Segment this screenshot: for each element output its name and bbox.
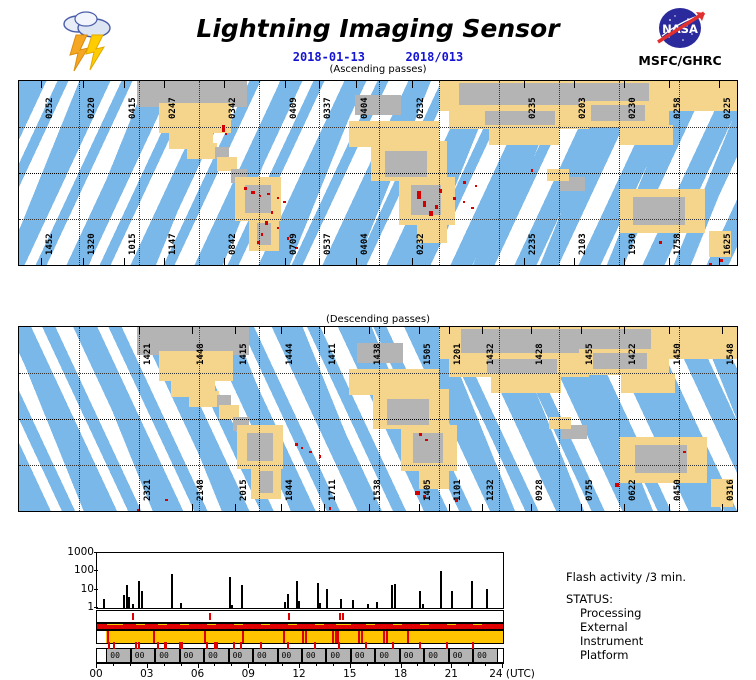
flash-activity-bar (422, 604, 424, 608)
platform-status-mark (157, 642, 159, 649)
platform-orbit-segment: 00 (302, 649, 326, 662)
descending-map-canvas: 1421144814151444141114381505120114321428… (19, 327, 737, 511)
flash-activity-bar (141, 591, 143, 608)
processing-status-mark (339, 613, 341, 620)
platform-status-mark (206, 642, 208, 649)
orbit-time-label: 2103 (578, 233, 588, 255)
orbit-tick (719, 258, 720, 265)
status-row-platform: 00000000000000000000000000000000 (96, 648, 504, 663)
x-minor-tick (333, 663, 334, 666)
external-status-mark (366, 623, 375, 625)
platform-status-mark (446, 642, 448, 649)
flash-activity-bar (440, 571, 442, 608)
flash-activity-bar (451, 591, 453, 608)
flash-activity-bar (180, 603, 182, 608)
orbit-tick (482, 504, 483, 511)
orbit-tick (722, 327, 723, 334)
instrument-status-mark (361, 631, 363, 643)
external-status-mark (447, 623, 456, 625)
chart-y-axis-labels: 1101001000 (54, 548, 94, 613)
x-minor-tick (130, 663, 131, 666)
flash-activity-bar (171, 574, 173, 608)
platform-orbit-segment: 00 (229, 649, 253, 662)
platform-orbit-segment: 00 (253, 649, 277, 662)
orbit-time-label: 1444 (285, 343, 295, 365)
orbit-time-label: 0622 (628, 479, 638, 501)
platform-status-mark (338, 642, 340, 649)
orbit-time-label: 1448 (196, 343, 206, 365)
x-tick-label: 03 (140, 668, 153, 680)
page-header: Lightning Imaging Sensor 2018-01-13 2018… (0, 0, 756, 76)
flash-activity-bar (486, 589, 488, 608)
flash-activity-bar (367, 604, 369, 608)
external-status-mark (158, 623, 167, 625)
flash-activity-bar (340, 599, 342, 608)
processing-status-mark (132, 613, 134, 620)
orbit-tick (324, 327, 325, 334)
orbit-time-label: 0537 (323, 233, 333, 255)
orbit-time-label: 1930 (628, 233, 638, 255)
date-doy: 2018/013 (405, 50, 463, 64)
y-tick-mark (94, 607, 98, 608)
legend-status-instrument: Instrument (566, 634, 756, 648)
orbit-tick (722, 504, 723, 511)
flash-activity-bar (471, 581, 473, 608)
orbit-tick (482, 327, 483, 334)
flash-activity-bar (352, 600, 354, 608)
orbit-time-label: 1320 (87, 233, 97, 255)
external-status-mark (288, 623, 297, 625)
orbit-time-label: 0258 (673, 97, 683, 119)
orbit-time-label: 1625 (723, 233, 733, 255)
instrument-status-mark (305, 631, 307, 643)
x-axis-line (96, 663, 504, 664)
orbit-time-label: 1015 (128, 233, 138, 255)
platform-orbit-segment: 00 (473, 649, 497, 662)
x-tick-label: 21 (445, 668, 458, 680)
external-status-mark (234, 623, 243, 625)
orbit-tick (369, 327, 370, 334)
platform-orbit-segment: 00 (106, 649, 130, 662)
platform-status-mark (216, 642, 218, 649)
processing-status-mark (288, 613, 290, 620)
platform-status-mark (135, 642, 137, 649)
orbit-time-label: 1758 (673, 233, 683, 255)
ascending-passes-map[interactable]: 0252022004150247034204090337040402320235… (18, 80, 738, 266)
x-minor-tick (434, 663, 435, 666)
orbit-time-label: 0247 (168, 97, 178, 119)
orbit-tick (669, 81, 670, 88)
orbit-tick (235, 504, 236, 511)
legend-status-heading: STATUS: (566, 592, 756, 606)
instrument-status-mark (153, 631, 155, 643)
external-status-mark (473, 623, 482, 625)
x-minor-tick (231, 663, 232, 666)
flash-activity-bar (132, 604, 134, 608)
flash-activity-bar (103, 599, 105, 608)
instrument-gap (97, 631, 106, 643)
x-minor-tick (113, 663, 114, 666)
date-iso: 2018-01-13 (293, 50, 365, 64)
orbit-tick (624, 327, 625, 334)
orbit-tick (531, 504, 532, 511)
orbit-time-label: 1452 (45, 233, 55, 255)
external-status-mark (136, 623, 145, 625)
x-minor-tick (384, 663, 385, 666)
orbit-tick (319, 81, 320, 88)
platform-status-mark (260, 642, 262, 649)
orbit-tick (139, 504, 140, 511)
y-tick-mark (94, 570, 98, 571)
platform-status-mark (314, 642, 316, 649)
orbit-tick (531, 327, 532, 334)
x-minor-tick (164, 663, 165, 666)
status-row-external (96, 623, 504, 630)
nasa-center-label: MSFC/GHRC (628, 53, 732, 68)
orbit-time-label: 0225 (723, 97, 733, 119)
orbit-time-label: 0252 (45, 97, 55, 119)
orbit-time-label: 0220 (87, 97, 97, 119)
platform-orbit-segment: 00 (131, 649, 155, 662)
orbit-tick (83, 81, 84, 88)
x-tick-label: 15 (343, 668, 356, 680)
orbit-tick (419, 504, 420, 511)
orbit-tick (624, 258, 625, 265)
orbit-tick (669, 504, 670, 511)
platform-status-mark (287, 642, 289, 649)
x-minor-tick (214, 663, 215, 666)
orbit-time-label: 1455 (585, 343, 595, 365)
orbit-tick (356, 81, 357, 88)
flash-activity-bar (319, 603, 321, 608)
external-status-mark (393, 623, 402, 625)
flash-activity-bar (128, 597, 130, 608)
orbit-time-label: 0232 (416, 233, 426, 255)
flash-activity-plot[interactable] (96, 552, 504, 609)
orbit-tick (83, 258, 84, 265)
orbit-time-label: 1405 (423, 479, 433, 501)
orbit-tick (669, 327, 670, 334)
orbit-time-label: 1450 (673, 343, 683, 365)
orbit-tick (624, 504, 625, 511)
legend-spacer (566, 584, 756, 592)
flash-activity-bar (298, 601, 300, 608)
platform-orbit-segment: 00 (424, 649, 448, 662)
orbit-tick (164, 258, 165, 265)
orbit-time-label: 1421 (143, 343, 153, 365)
external-status-mark (420, 623, 429, 625)
platform-status-mark (392, 642, 394, 649)
orbit-time-label: 0342 (228, 97, 238, 119)
platform-status-mark (108, 642, 110, 649)
platform-status-mark (113, 642, 115, 649)
instrument-status-mark (242, 631, 244, 643)
platform-status-mark (233, 642, 235, 649)
orbit-tick (412, 81, 413, 88)
processing-status-mark (209, 613, 211, 620)
orbit-tick (139, 327, 140, 334)
orbit-tick (669, 258, 670, 265)
flash-activity-bar (287, 594, 289, 608)
orbit-tick (324, 504, 325, 511)
orbit-time-label: 0316 (726, 479, 736, 501)
orbit-tick (192, 504, 193, 511)
external-status-mark (342, 623, 351, 625)
flash-activity-bar (229, 577, 231, 608)
orbit-time-label: 1844 (285, 479, 295, 501)
platform-orbit-segment: 00 (204, 649, 228, 662)
orbit-time-label: 2148 (196, 479, 206, 501)
platform-orbit-segment: 00 (180, 649, 204, 662)
orbit-tick (192, 327, 193, 334)
x-minor-tick (316, 663, 317, 666)
x-minor-tick (282, 663, 283, 666)
x-tick-label: 00 (89, 668, 102, 680)
orbit-time-label: 2015 (239, 479, 249, 501)
orbit-tick (285, 81, 286, 88)
orbit-time-label: 1711 (328, 479, 338, 501)
platform-status-mark (181, 642, 183, 649)
orbit-tick (124, 258, 125, 265)
orbit-tick (719, 81, 720, 88)
x-minor-tick (367, 663, 368, 666)
orbit-tick (581, 327, 582, 334)
processing-status-mark (342, 613, 344, 620)
orbit-time-label: 0709 (289, 233, 299, 255)
orbit-time-label: 1415 (239, 343, 249, 365)
platform-orbit-segment: 00 (449, 649, 473, 662)
orbit-time-label: 2321 (143, 479, 153, 501)
orbit-time-label: 2235 (528, 233, 538, 255)
orbit-time-label: 0928 (535, 479, 545, 501)
platform-orbit-segment: 00 (155, 649, 179, 662)
external-status-mark (261, 623, 270, 625)
orbit-time-label: 0755 (585, 479, 595, 501)
orbit-tick (285, 258, 286, 265)
instrument-status-mark (283, 631, 285, 643)
orbit-time-label: 0232 (416, 97, 426, 119)
platform-status-mark (165, 642, 167, 649)
orbit-time-label: 1538 (373, 479, 383, 501)
x-minor-tick (485, 663, 486, 666)
orbit-time-label: 1548 (726, 343, 736, 365)
orbit-time-label: 0337 (323, 97, 333, 119)
orbit-tick (224, 258, 225, 265)
orbit-tick (449, 327, 450, 334)
orbit-time-label: 1438 (373, 343, 383, 365)
legend-status-processing: Processing (566, 606, 756, 620)
x-minor-tick (417, 663, 418, 666)
orbit-time-label: 1232 (486, 479, 496, 501)
orbit-tick (356, 258, 357, 265)
y-tick-label: 100 (74, 564, 94, 576)
x-tick-label: 12 (292, 668, 305, 680)
external-status-mark (207, 623, 216, 625)
orbit-tick (319, 258, 320, 265)
nasa-meatball-logo: NASA MSFC/GHRC (628, 6, 732, 74)
orbit-time-label: 1101 (453, 479, 463, 501)
orbit-time-label: 0450 (673, 479, 683, 501)
status-row-processing (96, 610, 504, 623)
external-status-mark (180, 623, 189, 625)
orbit-time-label: 1411 (328, 343, 338, 365)
orbit-time-label: 0409 (289, 97, 299, 119)
orbit-tick (581, 504, 582, 511)
orbit-tick (412, 258, 413, 265)
orbit-time-label: 0203 (578, 97, 588, 119)
instrument-status-mark (386, 631, 388, 643)
flash-activity-bar (376, 602, 378, 608)
flash-activity-bar (231, 605, 233, 608)
platform-status-mark (419, 642, 421, 649)
orbit-tick (419, 327, 420, 334)
orbit-tick (624, 81, 625, 88)
orbit-tick (41, 258, 42, 265)
orbit-time-label: 1422 (628, 343, 638, 365)
platform-orbit-segment: 00 (351, 649, 375, 662)
y-tick-label: 1000 (67, 546, 94, 558)
flash-activity-bar (326, 589, 328, 608)
platform-orbit-segment: 00 (326, 649, 350, 662)
orbit-tick (369, 504, 370, 511)
legend-status-platform: Platform (566, 648, 756, 662)
orbit-tick (235, 327, 236, 334)
x-tick-label: 24 (UTC) (489, 668, 535, 680)
orbit-time-label: 1428 (535, 343, 545, 365)
instrument-status-mark (383, 631, 385, 643)
orbit-tick (449, 504, 450, 511)
external-status-mark (315, 623, 324, 625)
orbit-time-label: 0235 (528, 97, 538, 119)
legend-flash-activity: Flash activity /3 min. (566, 570, 756, 584)
y-tick-label: 10 (81, 583, 94, 595)
chart-legend: Flash activity /3 min. STATUS: Processin… (566, 570, 756, 662)
descending-subtitle: (Descending passes) (0, 314, 756, 325)
orbit-tick (124, 81, 125, 88)
orbit-tick (224, 81, 225, 88)
platform-status-mark (472, 642, 474, 649)
y-tick-mark (94, 589, 98, 590)
orbit-tick (574, 258, 575, 265)
orbit-tick (41, 81, 42, 88)
platform-orbit-segment: 00 (400, 649, 424, 662)
orbit-time-label: 1201 (453, 343, 463, 365)
x-minor-tick (468, 663, 469, 666)
y-tick-label: 1 (87, 601, 94, 613)
platform-orbit-segment: 00 (278, 649, 302, 662)
x-tick-label: 09 (242, 668, 255, 680)
orbit-tick (164, 81, 165, 88)
orbit-time-label: 0404 (360, 233, 370, 255)
legend-status-external: External (566, 620, 756, 634)
flash-activity-bar (394, 584, 396, 608)
orbit-time-label: 0230 (628, 97, 638, 119)
platform-status-mark (138, 642, 140, 649)
x-minor-tick (265, 663, 266, 666)
orbit-time-label: 0404 (360, 97, 370, 119)
flash-activity-bar (284, 602, 286, 608)
ascending-map-canvas: 0252022004150247034204090337040402320235… (19, 81, 737, 265)
chart-x-axis: 000306091215182124 (UTC) (96, 663, 504, 680)
orbit-time-label: 1432 (486, 343, 496, 365)
flash-activity-bar (241, 585, 243, 608)
instrument-status-mark (358, 631, 360, 643)
orbit-tick (281, 504, 282, 511)
x-minor-tick (181, 663, 182, 666)
orbit-tick (524, 258, 525, 265)
platform-orbit-segment: 00 (375, 649, 399, 662)
orbit-time-label: 0842 (228, 233, 238, 255)
flash-activity-chart[interactable]: 1101001000 00000000000000000000000000000… (0, 548, 756, 680)
orbit-time-label: 1147 (168, 233, 178, 255)
flash-activity-bar (391, 585, 393, 608)
instrument-status-mark (302, 631, 304, 643)
platform-status-mark (240, 642, 242, 649)
x-tick-label: 18 (394, 668, 407, 680)
external-status-mark (114, 623, 123, 625)
descending-passes-map[interactable]: 1421144814151444141114381505120114321428… (18, 326, 738, 512)
platform-status-mark (365, 642, 367, 649)
orbit-time-label: 0415 (128, 97, 138, 119)
orbit-time-label: 1505 (423, 343, 433, 365)
orbit-tick (574, 81, 575, 88)
instrument-status-mark (407, 631, 409, 643)
orbit-tick (524, 81, 525, 88)
orbit-tick (281, 327, 282, 334)
x-tick-label: 06 (191, 668, 204, 680)
y-tick-mark (94, 552, 98, 553)
